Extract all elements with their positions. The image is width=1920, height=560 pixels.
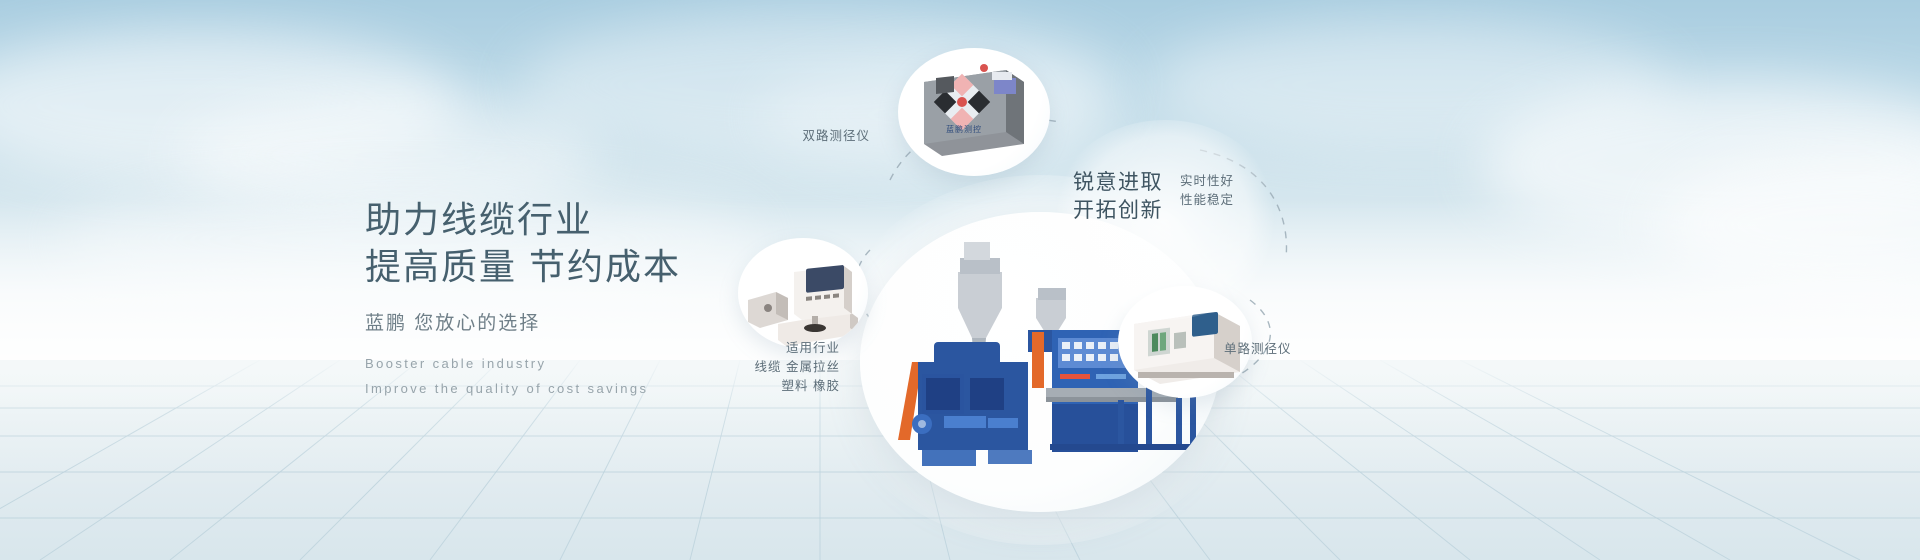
svg-text:蓝鹏测控: 蓝鹏测控 (946, 124, 982, 134)
dual-gauge-bubble: 蓝鹏测控 (898, 48, 1050, 176)
slogan-line-2: 开拓创新 (1073, 196, 1163, 226)
feature-line-2: 性能稳定 (1180, 191, 1234, 210)
feature-line-1: 实时性好 (1180, 172, 1234, 191)
subheadline: 蓝鹏 您放心的选择 (365, 308, 681, 335)
industry-line-2: 线缆 金属拉丝 (710, 358, 840, 377)
industry-title: 适用行业 (710, 339, 840, 358)
product-composition: 蓝鹏测控 (730, 0, 1920, 560)
cloud-decoration (0, 30, 460, 180)
label-single-gauge: 单路测径仪 (1224, 340, 1292, 359)
industry-line-3: 塑料 橡胶 (710, 377, 840, 396)
console-bubble (738, 238, 868, 348)
headline-line-1: 助力线缆行业 (365, 196, 681, 243)
label-dual-gauge: 双路测径仪 (730, 127, 870, 146)
hero-copy: 助力线缆行业 提高质量 节约成本 蓝鹏 您放心的选择 Booster cable… (365, 196, 681, 401)
measuring-device-icon: 蓝鹏测控 (898, 48, 1050, 176)
english-tagline-1: Booster cable industry (365, 351, 681, 376)
control-console-icon (738, 238, 868, 348)
headline-line-2: 提高质量 节约成本 (365, 243, 681, 290)
slogan-line-1: 锐意进取 (1073, 168, 1163, 198)
hero-banner: 助力线缆行业 提高质量 节约成本 蓝鹏 您放心的选择 Booster cable… (0, 0, 1920, 560)
english-tagline-2: Improve the quality of cost savings (365, 376, 681, 401)
